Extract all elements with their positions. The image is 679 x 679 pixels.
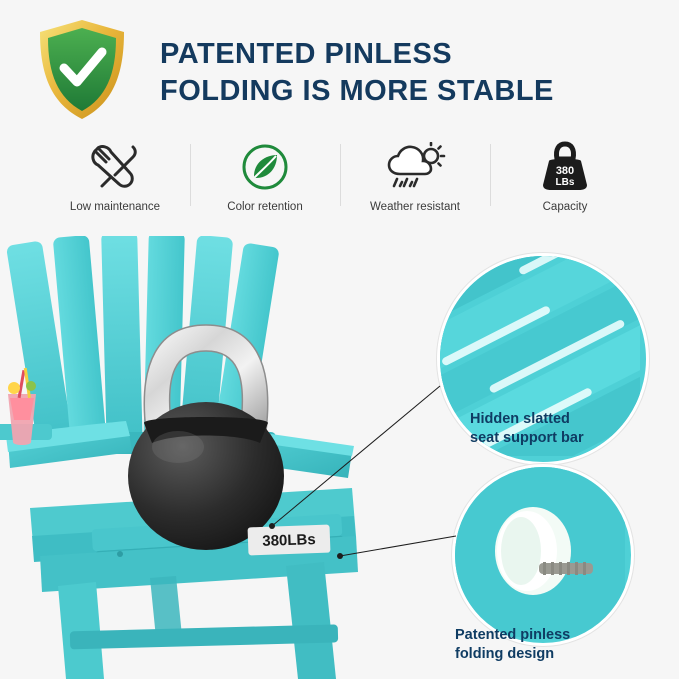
leader-lines — [0, 236, 679, 679]
divider — [340, 144, 341, 206]
feature-label: Color retention — [190, 201, 340, 213]
product-infographic: PATENTED PINLESS FOLDING IS MORE STABLE … — [0, 0, 679, 679]
feature-weather-resistant: Weather resistant — [340, 138, 490, 230]
divider — [490, 144, 491, 206]
capacity-badge-number: 380 — [556, 165, 574, 177]
capacity-badge-unit: LBs — [556, 177, 575, 188]
shield-check-icon — [36, 18, 128, 122]
kettlebell-icon: 380 LBs — [490, 138, 640, 196]
feature-label: Weather resistant — [340, 201, 490, 213]
feature-low-maintenance: Low maintenance — [40, 138, 190, 230]
header: PATENTED PINLESS FOLDING IS MORE STABLE — [0, 0, 679, 130]
page-title-line2: FOLDING IS MORE STABLE — [160, 73, 660, 110]
page-title-line1: PATENTED PINLESS — [160, 36, 660, 73]
leaf-circle-icon — [190, 138, 340, 196]
feature-label: Low maintenance — [40, 201, 190, 213]
feature-capacity: 380 LBs Capacity — [490, 138, 640, 230]
divider — [190, 144, 191, 206]
cloud-sun-rain-icon — [340, 138, 490, 196]
page-title: PATENTED PINLESS FOLDING IS MORE STABLE — [160, 36, 660, 110]
wrench-screwdriver-icon — [40, 138, 190, 196]
feature-row: Low maintenance Color retention — [40, 138, 640, 230]
product-photo: 380LBs — [0, 236, 679, 679]
feature-label: Capacity — [490, 201, 640, 213]
feature-color-retention: Color retention — [190, 138, 340, 230]
